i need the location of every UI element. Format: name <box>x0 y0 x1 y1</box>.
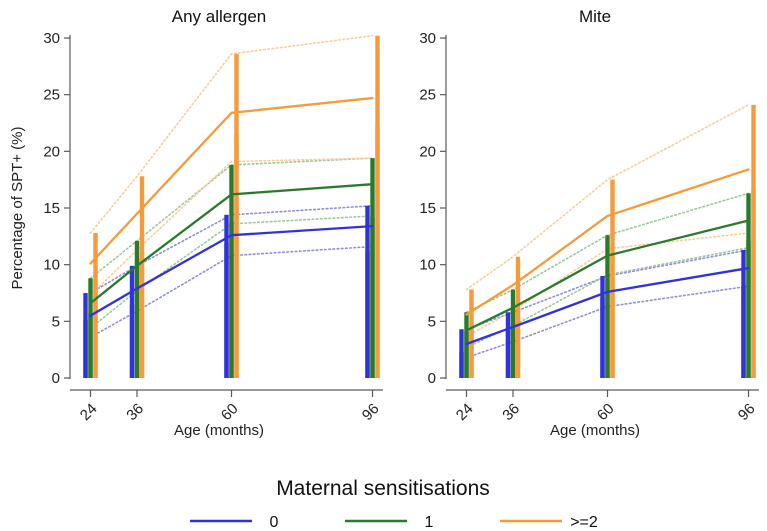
chart-svg: Any allergen05101520253024366096Age (mon… <box>0 0 767 531</box>
x-axis-title: Age (months) <box>550 422 640 439</box>
legend-entry-1[interactable]: 1 <box>345 514 434 531</box>
bar-group->=2-age-96 <box>375 126 379 378</box>
bar-group-1-age-24 <box>88 313 92 378</box>
x-tick-label: 24 <box>77 400 101 424</box>
y-tick-label: 15 <box>43 200 60 217</box>
x-tick-label: 24 <box>453 400 477 424</box>
y-tick-label: 25 <box>43 87 60 104</box>
bar-group->=2-age-60 <box>234 134 238 378</box>
bar-group-0-age-96 <box>741 286 745 378</box>
y-tick-label: 20 <box>419 143 436 160</box>
x-axis-1: 24366096Age (months) <box>446 390 759 439</box>
x-tick-label: 60 <box>594 400 618 424</box>
y-tick-label: 20 <box>43 143 60 160</box>
x-axis-0: 24366096Age (months) <box>70 390 383 439</box>
bar-group->=2-age-24 <box>93 279 97 378</box>
y-axis-title-group: Percentage of SPT+ (%) <box>9 127 26 290</box>
bar-group->=2-age-96 <box>751 190 755 378</box>
bar-group-0-age-60 <box>224 243 228 378</box>
legend-entry->=2[interactable]: >=2 <box>500 514 598 531</box>
y-tick-label: 25 <box>419 87 436 104</box>
bar-group-0-age-24 <box>459 352 463 378</box>
bar-group-1-age-36 <box>135 259 139 378</box>
legend-label-1: 1 <box>425 514 434 531</box>
bar-group-1-age-96 <box>370 217 374 378</box>
bar-group-0-age-24 <box>83 320 87 378</box>
bars-1 <box>459 190 755 378</box>
panel-any-allergen: Any allergen05101520253024366096Age (mon… <box>43 7 383 439</box>
y-tick-label: 5 <box>52 313 60 330</box>
y-tick-label: 15 <box>419 200 436 217</box>
bar-group->=2-age-36 <box>516 302 520 378</box>
bar-group-1-age-60 <box>229 222 233 378</box>
y-tick-label: 30 <box>43 30 60 47</box>
y-tick-label: 5 <box>428 313 436 330</box>
y-tick-label: 10 <box>43 257 60 274</box>
y-tick-label: 10 <box>419 257 436 274</box>
bar-group-0-age-36 <box>130 304 134 378</box>
panel-mite: Mite05101520253024366096Age (months) <box>419 7 759 439</box>
legend-label-0: 0 <box>270 514 279 531</box>
panel-title-1: Mite <box>579 7 611 26</box>
bar-group-1-age-24 <box>464 332 468 378</box>
y-axis-0: 051015202530 <box>43 30 70 387</box>
legend-label->=2: >=2 <box>570 514 598 531</box>
legend-entry-0[interactable]: 0 <box>190 514 279 531</box>
panel-title-0: Any allergen <box>172 7 267 26</box>
legend-title: Maternal sensitisations <box>276 477 490 500</box>
x-tick-label: 36 <box>499 400 523 424</box>
x-tick-label: 96 <box>359 400 383 424</box>
bar-group-1-age-60 <box>605 279 609 378</box>
x-tick-label: 60 <box>218 400 242 424</box>
bar-group-1-age-96 <box>746 241 750 378</box>
bar-group-0-age-60 <box>600 298 604 378</box>
bar-group->=2-age-24 <box>469 322 473 378</box>
x-axis-title: Age (months) <box>174 422 264 439</box>
x-tick-label: 36 <box>123 400 147 424</box>
bar-group->=2-age-36 <box>140 252 144 378</box>
bar-group->=2-age-60 <box>610 253 614 378</box>
y-tick-label: 0 <box>52 370 60 387</box>
y-axis-1: 051015202530 <box>419 30 446 387</box>
y-axis-title: Percentage of SPT+ (%) <box>9 127 26 290</box>
figure-container: Any allergen05101520253024366096Age (mon… <box>0 0 767 531</box>
y-tick-label: 0 <box>428 370 436 387</box>
bar-group-1-age-36 <box>511 310 515 378</box>
bar-group-0-age-96 <box>365 251 369 378</box>
bar-group-0-age-36 <box>506 329 510 378</box>
x-tick-label: 96 <box>735 400 759 424</box>
y-tick-label: 30 <box>419 30 436 47</box>
legend: Maternal sensitisations01>=2 <box>190 477 598 531</box>
